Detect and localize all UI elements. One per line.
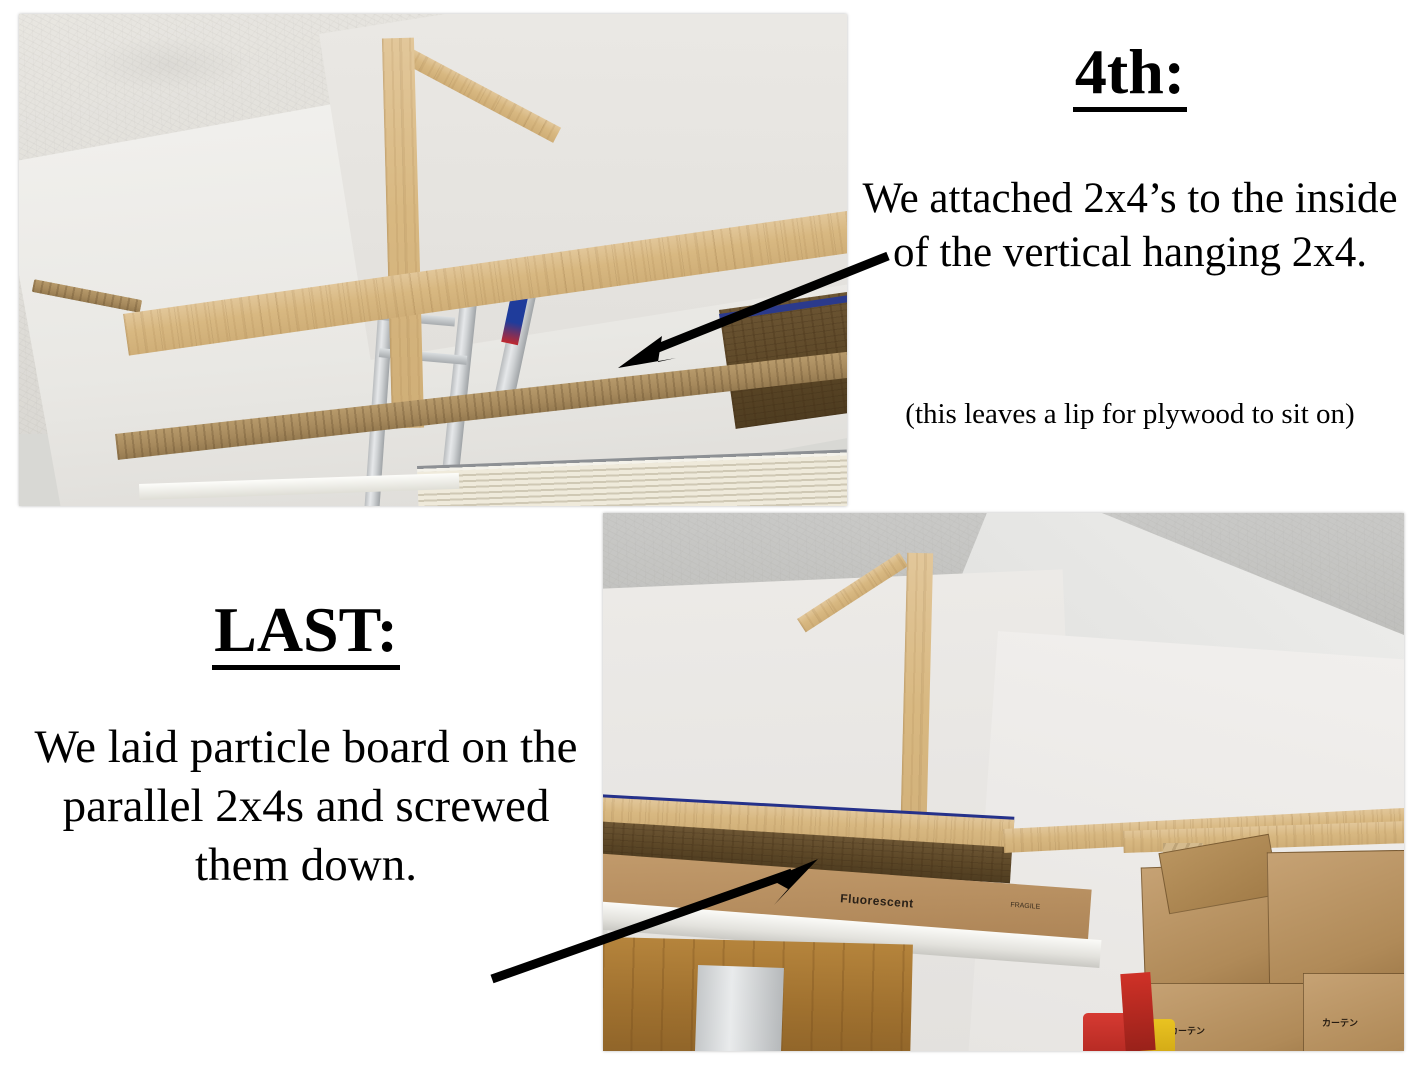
heading-step-4th-text: 4th: xyxy=(1073,38,1187,112)
red-bag xyxy=(1120,972,1155,1051)
heading-step-4th: 4th: xyxy=(852,38,1408,112)
body-step-last: We laid particle board on the parallel 2… xyxy=(14,718,598,894)
box-lower-right: カーテン xyxy=(1303,973,1404,1051)
slide-canvas: Fluorescent FRAGILE カーテン カーテン 4th: We at… xyxy=(0,0,1422,1066)
note-step-4th: (this leaves a lip for plywood to sit on… xyxy=(856,396,1404,433)
fluorescent-box-label: Fluorescent xyxy=(840,891,914,910)
body-step-4th: We attached 2x4’s to the inside of the v… xyxy=(852,172,1408,280)
heading-step-last: LAST: xyxy=(14,596,598,670)
heading-step-last-text: LAST: xyxy=(212,596,400,670)
window-blinds xyxy=(417,455,847,506)
fragile-box-label: FRAGILE xyxy=(1010,902,1040,911)
